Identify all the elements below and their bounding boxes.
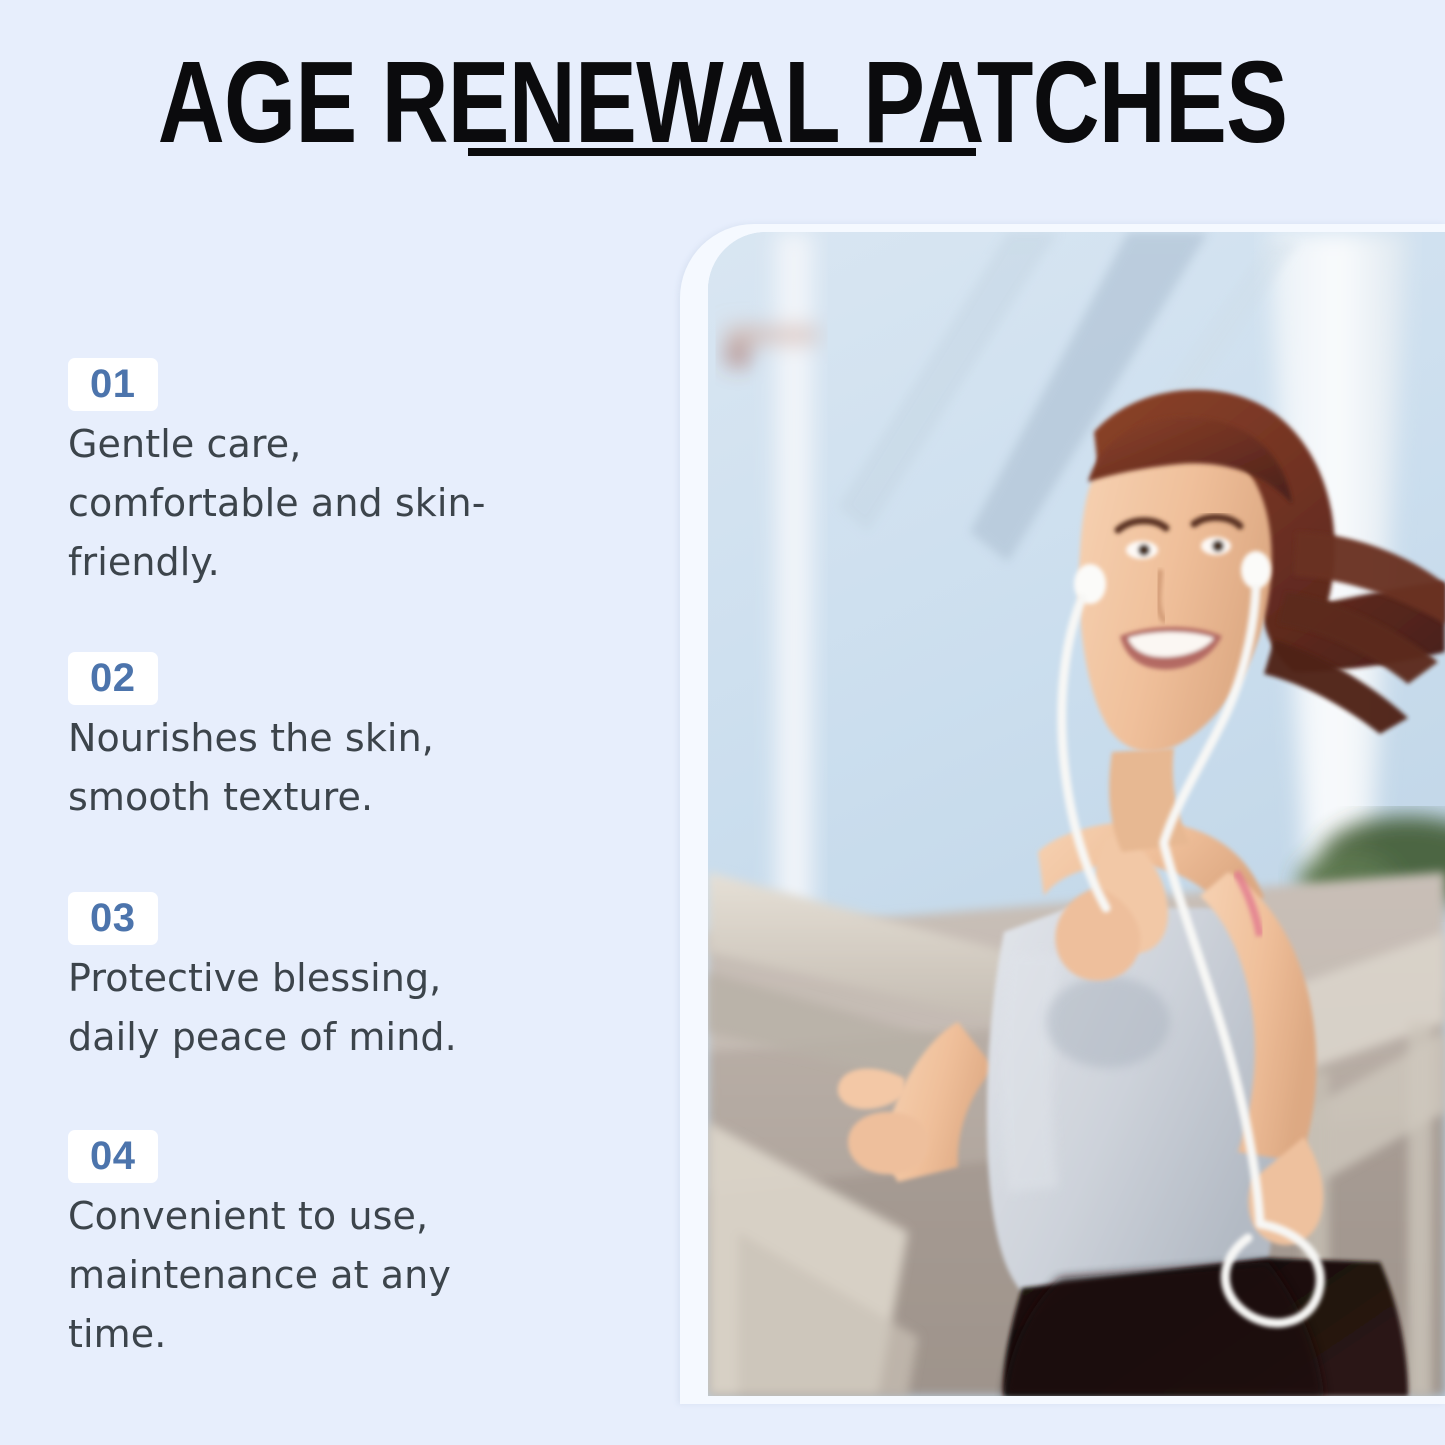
poster-root: AGE RENEWAL PATCHES 01 Gentle care, comf… bbox=[0, 0, 1445, 1445]
list-item: 01 Gentle care, comfortable and skin-fri… bbox=[68, 358, 538, 592]
feature-number-badge: 03 bbox=[68, 892, 158, 945]
page-title-block: AGE RENEWAL PATCHES bbox=[0, 44, 1445, 160]
feature-number: 01 bbox=[90, 362, 136, 406]
feature-number: 02 bbox=[90, 656, 136, 700]
title-underline bbox=[468, 148, 976, 156]
feature-number-badge: 01 bbox=[68, 358, 158, 411]
photo-illustration bbox=[708, 232, 1445, 1396]
feature-number-badge: 04 bbox=[68, 1130, 158, 1183]
photo-frame bbox=[680, 224, 1445, 1404]
feature-number: 03 bbox=[90, 896, 136, 940]
page-title: AGE RENEWAL PATCHES bbox=[145, 44, 1301, 160]
feature-description: Protective blessing, daily peace of mind… bbox=[68, 949, 538, 1067]
list-item: 04 Convenient to use, maintenance at any… bbox=[68, 1130, 538, 1364]
feature-number: 04 bbox=[90, 1134, 136, 1178]
feature-number-badge: 02 bbox=[68, 652, 158, 705]
feature-description: Convenient to use, maintenance at any ti… bbox=[68, 1187, 538, 1364]
feature-description: Gentle care, comfortable and skin-friend… bbox=[68, 415, 538, 592]
list-item: 02 Nourishes the skin, smooth texture. bbox=[68, 652, 538, 827]
product-photo bbox=[708, 232, 1445, 1396]
list-item: 03 Protective blessing, daily peace of m… bbox=[68, 892, 538, 1067]
feature-description: Nourishes the skin, smooth texture. bbox=[68, 709, 538, 827]
